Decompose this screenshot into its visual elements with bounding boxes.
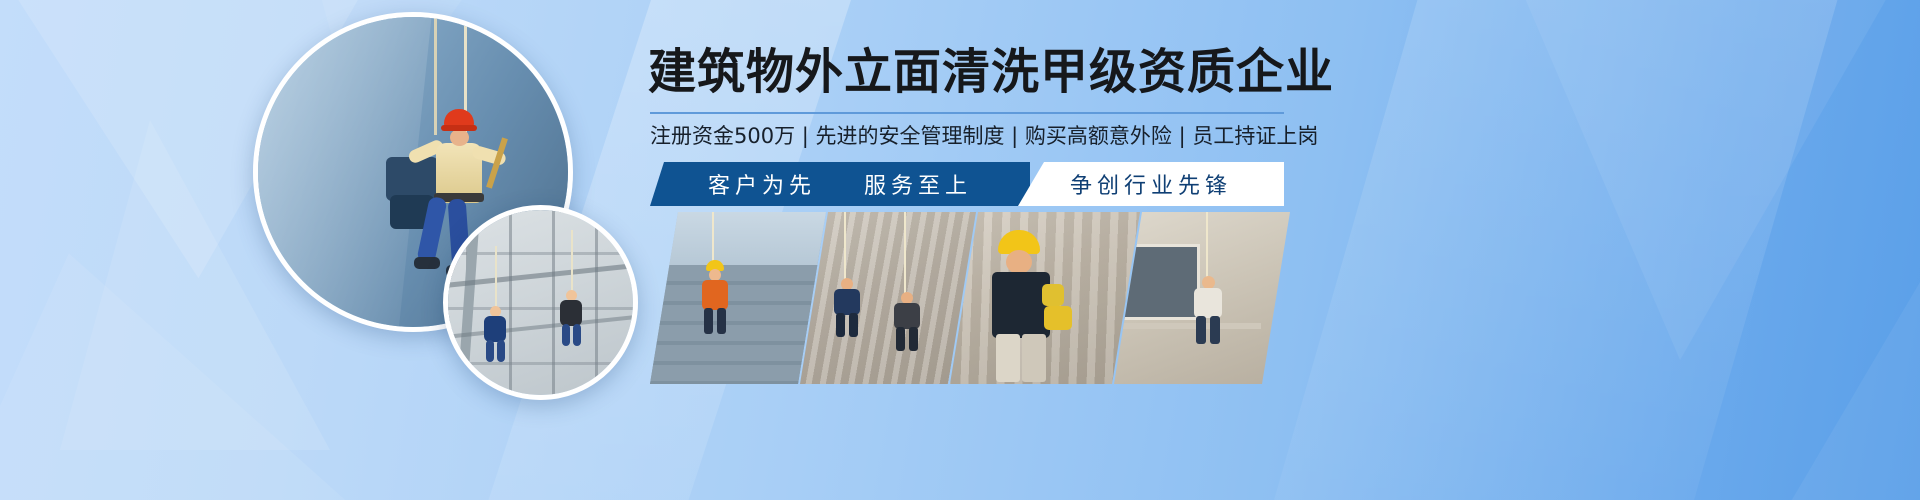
worker-head xyxy=(450,129,469,146)
worker-leg xyxy=(497,340,505,362)
worker-torso xyxy=(560,300,582,326)
safety-rope xyxy=(571,230,573,292)
worker-leg xyxy=(836,313,845,337)
strip-photo-3 xyxy=(950,212,1143,384)
circle-photo-facade-abseil xyxy=(443,205,638,400)
worker-boot xyxy=(414,257,440,269)
worker-leg xyxy=(1210,316,1220,344)
worker-torso xyxy=(1194,288,1222,318)
worker-leg xyxy=(1196,316,1206,344)
helmet-brim xyxy=(441,125,477,131)
slogan-primary: 客户为先 xyxy=(708,168,816,200)
worker-leg xyxy=(717,308,726,334)
worker-leg xyxy=(573,324,581,346)
worker-torso xyxy=(702,280,728,310)
work-glove xyxy=(1042,284,1064,306)
slogan-highlight: 争创行业先锋 xyxy=(1070,168,1232,200)
decorative-triangle xyxy=(1780,180,1920,500)
slogan-bar: 客户为先 服务至上 争创行业先锋 xyxy=(650,162,1284,206)
worker-torso xyxy=(834,289,860,315)
safety-rope xyxy=(844,212,846,282)
promo-banner: 建筑物外立面清洗甲级资质企业 注册资金500万 | 先进的安全管理制度 | 购买… xyxy=(0,0,1920,500)
photo-concrete-wall xyxy=(800,212,979,384)
slogan-highlight-group: 争创行业先锋 xyxy=(1018,162,1284,206)
slogan-secondary: 服务至上 xyxy=(864,168,972,200)
worker-leg xyxy=(704,308,713,334)
worker-torso xyxy=(992,272,1050,338)
safety-rope xyxy=(434,17,437,135)
worker-leg xyxy=(1022,334,1046,382)
worker-leg xyxy=(486,340,494,362)
subheadline: 注册资金500万 | 先进的安全管理制度 | 购买高额意外险 | 员工持证上岗 xyxy=(650,124,1350,149)
worker-torso xyxy=(484,316,506,342)
photo-suspended-platform xyxy=(650,212,829,384)
slogan-primary-group: 客户为先 服务至上 xyxy=(650,162,1030,206)
photo-grey-facade xyxy=(448,210,633,395)
worker-leg xyxy=(909,327,918,351)
safety-rope xyxy=(712,212,714,264)
balcony-rail xyxy=(1114,323,1261,329)
worker-leg xyxy=(849,313,858,337)
headline: 建筑物外立面清洗甲级资质企业 xyxy=(648,48,1348,96)
plaster-trowel xyxy=(1044,306,1072,330)
safety-rope xyxy=(1206,212,1208,284)
strip-photo-1 xyxy=(650,212,829,384)
worker-torso xyxy=(894,303,920,329)
worker-leg xyxy=(996,334,1020,382)
wall-texture xyxy=(800,212,979,384)
worker-leg xyxy=(562,324,570,346)
strip-photo-2 xyxy=(800,212,979,384)
worker-leg xyxy=(896,327,905,351)
safety-rope xyxy=(904,212,906,296)
photo-strip xyxy=(650,212,1290,384)
strip-photo-4 xyxy=(1114,212,1293,384)
safety-rope xyxy=(495,246,497,308)
building-region xyxy=(650,265,829,384)
worker-head xyxy=(1006,250,1032,274)
headline-divider xyxy=(650,112,1284,114)
